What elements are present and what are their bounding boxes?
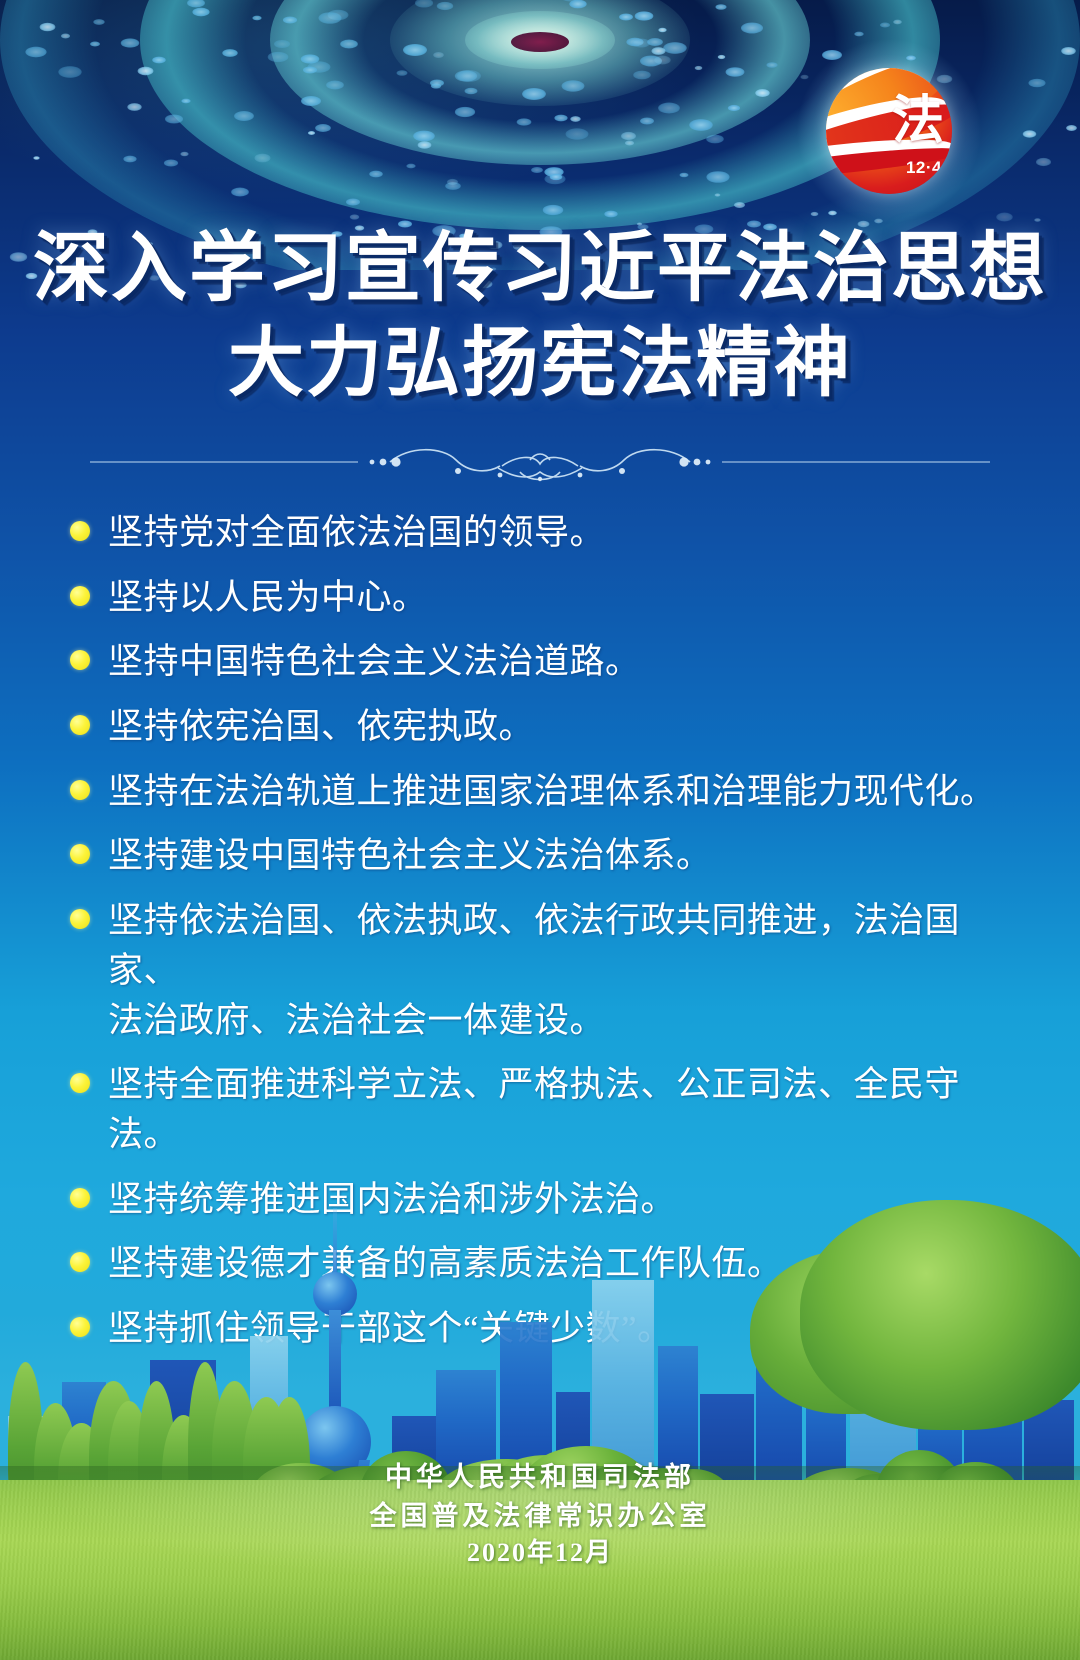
ceiling-light-dot	[715, 4, 726, 10]
title-line-1: 深入学习宣传习近平法治思想	[0, 226, 1080, 313]
list-item: 坚持依宪治国、依宪执政。	[70, 702, 1000, 752]
ceiling-light-dot	[231, 187, 249, 196]
footer-line-office: 全国普及法律常识办公室	[0, 1497, 1080, 1535]
ceiling-light-dot	[93, 19, 105, 25]
list-item-text: 坚持中国特色社会主义法治道路。	[108, 637, 641, 687]
tree-large-right	[800, 1200, 1080, 1430]
bottom-scenery	[0, 1140, 1080, 1660]
ceiling-light-dot	[561, 80, 584, 91]
list-item: 坚持以人民为中心。	[70, 573, 1000, 623]
ceiling-light-dot	[445, 182, 461, 190]
ceiling-light-dot	[663, 42, 687, 54]
title-line-2: 大力弘扬宪法精神	[0, 321, 1080, 408]
ceiling-light-dot	[274, 40, 290, 48]
list-item-text: 坚持党对全面依法治国的领导。	[108, 508, 605, 558]
list-item-text: 坚持以人民为中心。	[108, 573, 428, 623]
list-item: 坚持在法治轨道上推进国家治理体系和治理能力现代化。	[70, 767, 1000, 817]
list-item: 坚持中国特色社会主义法治道路。	[70, 637, 1000, 687]
ceiling-light-dot	[120, 38, 139, 47]
ceiling-light-dot	[706, 171, 729, 183]
ceiling-light-dot	[455, 107, 475, 117]
bullet-dot-icon	[70, 715, 90, 735]
ceiling-light-dot	[165, 114, 183, 123]
ceiling-light-dot	[303, 66, 317, 73]
ceiling-light-dot	[319, 12, 342, 24]
ceiling-light-dot	[283, 16, 297, 23]
list-item-text: 坚持建设中国特色社会主义法治体系。	[108, 831, 712, 881]
ceiling-light-dot	[658, 103, 680, 114]
bullet-dot-icon	[70, 1073, 90, 1093]
ceiling-light-dot	[741, 23, 763, 34]
ceiling-light-dot	[326, 81, 344, 90]
ceiling-light-dot	[26, 46, 47, 57]
ceiling-light-dot	[680, 172, 689, 176]
list-item: 坚持建设中国特色社会主义法治体系。	[70, 831, 1000, 881]
ceiling-light-dot	[415, 0, 433, 7]
list-item-text: 坚持在法治轨道上推进国家治理体系和治理能力现代化。	[108, 767, 996, 817]
ceiling-light-dot	[222, 49, 238, 57]
ceiling-light-dot	[59, 66, 82, 78]
bullet-dot-icon	[70, 909, 90, 929]
logo-date-label: 12·4	[906, 158, 942, 178]
ceiling-light-dot	[633, 70, 651, 79]
poster-title: 深入学习宣传习近平法治思想 大力弘扬宪法精神	[0, 226, 1080, 407]
ceiling-light-dot	[192, 8, 209, 17]
ceiling-light-dot	[252, 16, 261, 21]
ceiling-light-dot	[619, 13, 633, 20]
ceiling-light-dot	[706, 134, 724, 143]
list-item-text: 坚持依法治国、依法执政、依法行政共同推进，法治国家、法治政府、法治社会一体建设。	[108, 896, 1000, 1045]
ceiling-light-dot	[728, 105, 740, 111]
ceiling-light-dot	[464, 88, 477, 94]
footer-line-date: 2020年12月	[0, 1535, 1080, 1572]
ceiling-light-dot	[163, 159, 177, 166]
ceiling-light-dot	[522, 88, 546, 100]
ceiling-light-dot	[301, 54, 320, 63]
ceiling-light-dot	[430, 79, 444, 86]
logo-fa-character: 法	[892, 96, 944, 148]
bullet-dot-icon	[70, 650, 90, 670]
ceiling-light-dot	[123, 156, 136, 163]
list-item: 坚持党对全面依法治国的领导。	[70, 508, 1000, 558]
bullet-dot-icon	[70, 780, 90, 800]
ceiling-light-dot	[879, 23, 889, 28]
footer-line-ministry: 中华人民共和国司法部	[0, 1458, 1080, 1496]
ceiling-light-dot	[725, 67, 744, 76]
poster-footer: 中华人民共和国司法部 全国普及法律常识办公室 2020年12月	[0, 1458, 1080, 1572]
ceiling-light-dot	[543, 205, 563, 215]
constitution-day-logo: 法 12·4	[826, 68, 952, 194]
ceiling-light-dot	[689, 119, 713, 131]
ceiling-light-dot	[766, 62, 777, 68]
poster-root: 法 12·4 深入学习宣传习近平法治思想 大力弘扬宪法精神	[0, 0, 1080, 1660]
ceiling-light-dot	[604, 210, 617, 217]
ceiling-light-dot	[181, 98, 190, 103]
list-item: 坚持依法治国、依法执政、依法行政共同推进，法治国家、法治政府、法治社会一体建设。	[70, 896, 1000, 1045]
ceiling-light-dot	[437, 2, 453, 10]
logo-disc: 法 12·4	[826, 68, 952, 194]
bullet-dot-icon	[70, 521, 90, 541]
ceiling-light-dot	[457, 70, 481, 82]
list-item-text: 坚持依宪治国、依宪执政。	[108, 702, 534, 752]
ceiling-light-dot	[346, 198, 360, 205]
bullet-dot-icon	[70, 844, 90, 864]
ceiling-center-light	[511, 32, 569, 52]
ceiling-light-dot	[1028, 79, 1045, 88]
ceiling-light-dot	[403, 44, 427, 56]
ceiling-light-dot	[407, 163, 416, 168]
list-item-text-continued: 法治政府、法治社会一体建设。	[108, 996, 1000, 1046]
ceiling-light-dot	[531, 167, 543, 173]
ornamental-divider	[90, 432, 990, 488]
bullet-dot-icon	[70, 586, 90, 606]
